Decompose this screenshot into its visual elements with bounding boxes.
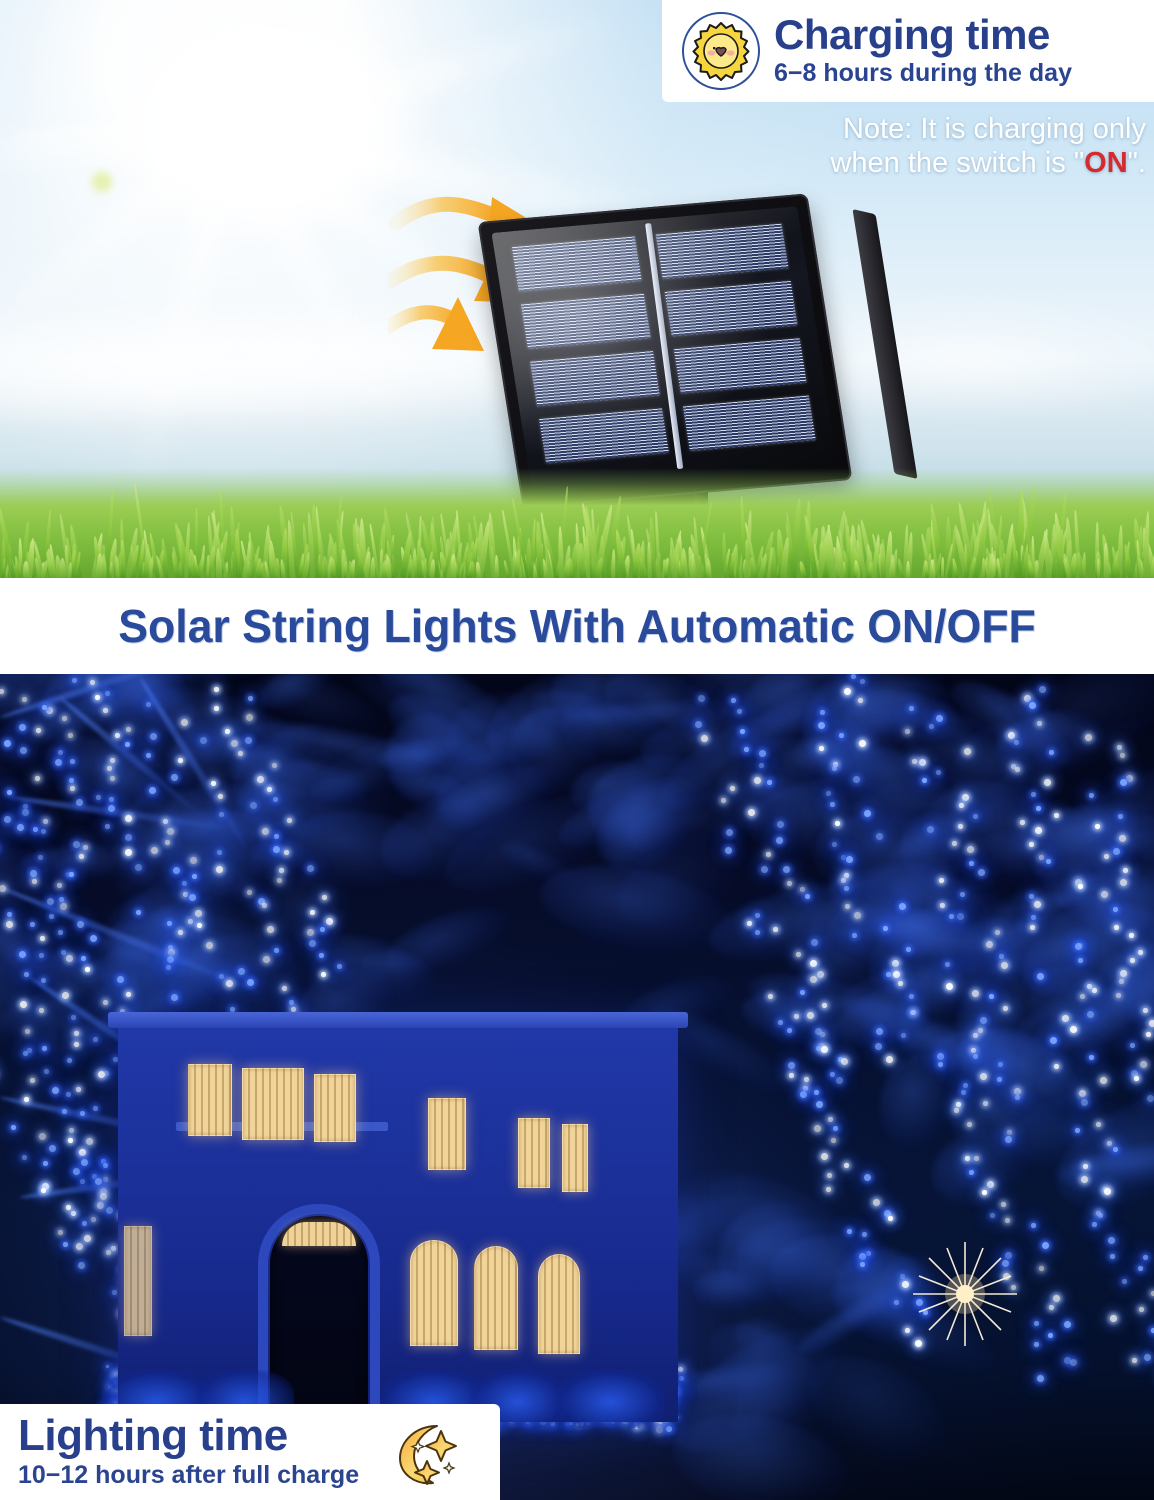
grass-field [0, 468, 1154, 578]
window [410, 1240, 458, 1346]
moon-stars-icon [382, 1408, 474, 1500]
hedge [556, 1370, 664, 1428]
charging-time-texts: Charging time 6−8 hours during the day [774, 14, 1072, 88]
window [242, 1068, 304, 1140]
lens-flare-dot [92, 172, 112, 192]
note-line-2: when the switch is "ON". [726, 146, 1146, 180]
window [562, 1124, 588, 1192]
panel-cells [491, 206, 838, 493]
house [118, 1026, 678, 1422]
lighting-time-badge: Lighting time 10−12 hours after full cha… [0, 1404, 500, 1500]
charging-time-badge: Charging time 6−8 hours during the day [662, 0, 1154, 102]
note-line-1: Note: It is charging only [726, 112, 1146, 146]
note-on-highlight: ON [1084, 147, 1128, 179]
charging-time-subtitle: 6−8 hours during the day [774, 59, 1072, 88]
window [474, 1246, 518, 1350]
window [518, 1118, 550, 1188]
window [538, 1254, 580, 1354]
charging-time-title: Charging time [774, 14, 1072, 56]
charging-note: Note: It is charging only when the switc… [726, 112, 1146, 180]
lighting-time-subtitle: 10−12 hours after full charge [18, 1461, 359, 1490]
window [188, 1064, 232, 1136]
night-scene [0, 674, 1154, 1500]
window [124, 1226, 152, 1336]
door-transom-window [282, 1222, 356, 1246]
sun-icon [682, 12, 760, 90]
roofline [108, 1012, 688, 1028]
headline-text: Solar String Lights With Automatic ON/OF… [118, 599, 1036, 653]
headline-banner: Solar String Lights With Automatic ON/OF… [0, 578, 1154, 674]
lighting-time-texts: Lighting time 10−12 hours after full cha… [0, 1414, 359, 1490]
panel-body [478, 193, 853, 508]
lighting-time-title: Lighting time [18, 1414, 359, 1458]
note-line-2-suffix: ". [1128, 147, 1146, 179]
product-infographic: Charging time 6−8 hours during the day N… [0, 0, 1154, 1500]
note-line-2-prefix: when the switch is " [830, 147, 1084, 179]
window [428, 1098, 466, 1170]
window [314, 1074, 356, 1142]
